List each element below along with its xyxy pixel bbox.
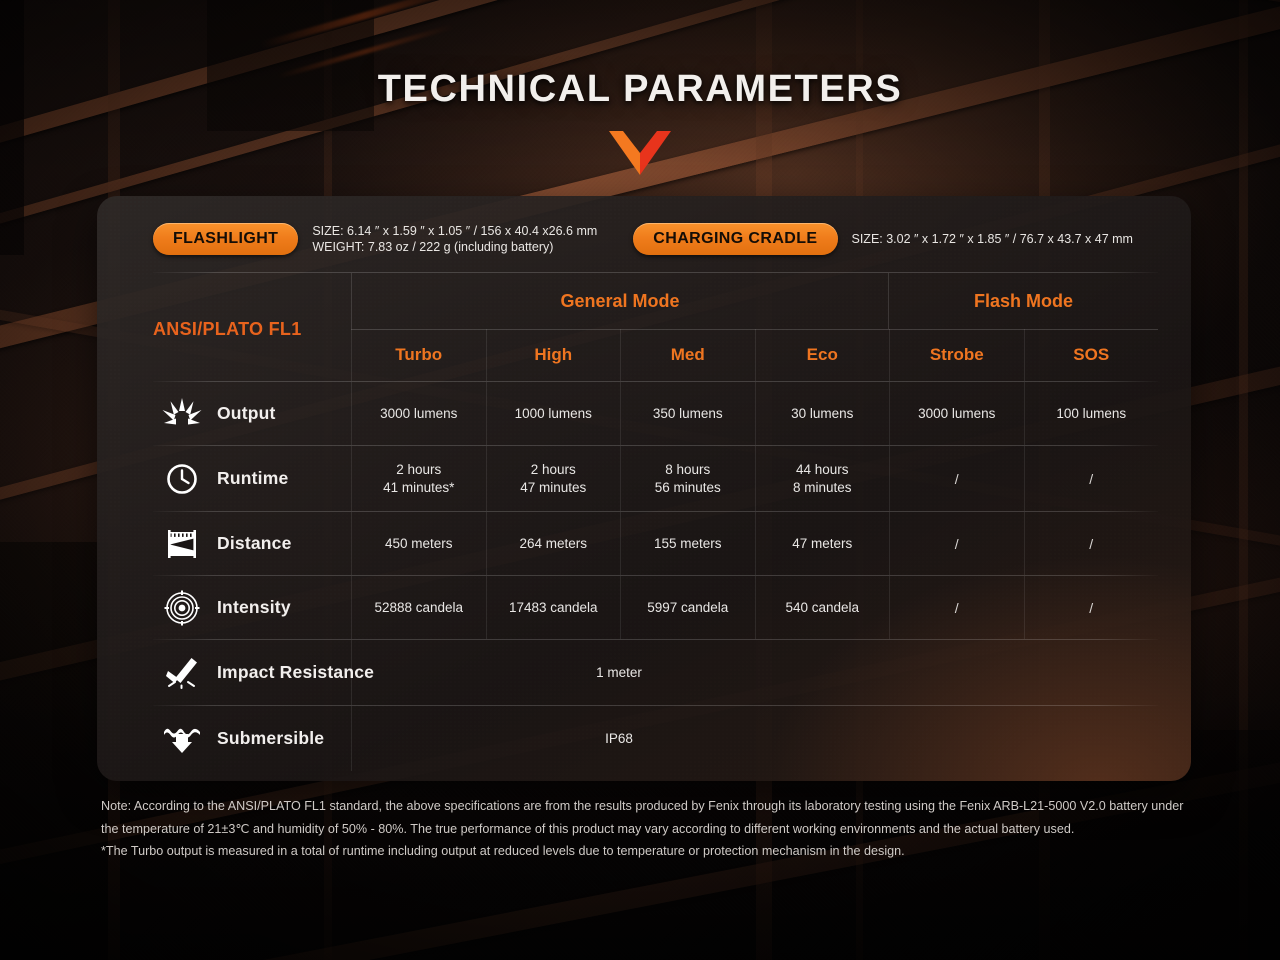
drop-impact-icon	[159, 653, 205, 693]
beam-distance-icon	[159, 524, 205, 564]
cell-distance-strobe: /	[889, 512, 1024, 575]
cell-intensity-high: 17483 candela	[486, 576, 621, 639]
row-label-output: Output	[153, 382, 351, 445]
row-name-submersible: Submersible	[217, 728, 324, 749]
cell-line-2: 41 minutes*	[383, 479, 454, 497]
table-row: Output 3000 lumens 1000 lumens 350 lumen…	[153, 382, 1158, 445]
row-label-impact-resistance: Impact Resistance	[153, 640, 351, 705]
footnote-line-2: *The Turbo output is measured in a total…	[101, 840, 1186, 863]
flashlight-weight: WEIGHT: 7.83 oz / 222 g (including batte…	[312, 239, 597, 255]
table-row: Impact Resistance 1 meter	[153, 640, 1158, 705]
mode-header-turbo: Turbo	[351, 329, 486, 381]
cell-distance-turbo: 450 meters	[351, 512, 486, 575]
table-header: ANSI/PLATO FL1 General Mode Flash Mode T…	[153, 273, 1158, 381]
cell-distance-high: 264 meters	[486, 512, 621, 575]
table-row: Distance 450 meters 264 meters 155 meter…	[153, 512, 1158, 575]
chevron-down-icon	[609, 131, 671, 175]
cell-line-2: 8 minutes	[793, 479, 852, 497]
table-row: Intensity 52888 candela 17483 candela 59…	[153, 576, 1158, 639]
header-sub-divider	[351, 329, 1158, 330]
page-title: TECHNICAL PARAMETERS	[0, 68, 1280, 111]
cell-runtime-sos: /	[1024, 446, 1159, 511]
cell-line-1: 44 hours	[793, 461, 852, 479]
submersible-text: IP68	[605, 731, 633, 746]
target-intensity-icon	[159, 588, 205, 628]
mode-header-eco: Eco	[755, 329, 890, 381]
cell-runtime-eco: 44 hours8 minutes	[755, 446, 890, 511]
cell-impact-resistance-value: 1 meter	[351, 640, 1158, 705]
cell-line-2: 47 minutes	[520, 479, 586, 497]
cell-intensity-med: 5997 candela	[620, 576, 755, 639]
specifications-table: ANSI/PLATO FL1 General Mode Flash Mode T…	[153, 272, 1158, 771]
row-label-runtime: Runtime	[153, 446, 351, 511]
charging-cradle-group: CHARGING CRADLE SIZE: 3.02 ″ x 1.72 ″ x …	[633, 223, 1133, 255]
sunburst-icon	[159, 394, 205, 434]
mode-header-med: Med	[620, 329, 755, 381]
cell-distance-sos: /	[1024, 512, 1159, 575]
charging-cradle-spec-text: SIZE: 3.02 ″ x 1.72 ″ x 1.85 ″ / 76.7 x …	[852, 231, 1133, 247]
flashlight-pill[interactable]: FLASHLIGHT	[153, 223, 298, 255]
cell-line-1: 2 hours	[520, 461, 586, 479]
group-header-flash-mode: Flash Mode	[888, 273, 1158, 329]
row-label-distance: Distance	[153, 512, 351, 575]
cell-submersible-value: IP68	[351, 706, 1158, 771]
footnote: Note: According to the ANSI/PLATO FL1 st…	[101, 795, 1186, 863]
cell-output-high: 1000 lumens	[486, 382, 621, 445]
row-label-intensity: Intensity	[153, 576, 351, 639]
cell-line-1: 8 hours	[655, 461, 721, 479]
cell-distance-eco: 47 meters	[755, 512, 890, 575]
spec-panel: FLASHLIGHT SIZE: 6.14 ″ x 1.59 ″ x 1.05 …	[97, 196, 1191, 781]
impact-resistance-text: 1 meter	[596, 665, 642, 680]
row-name-runtime: Runtime	[217, 468, 288, 489]
flashlight-spec-text: SIZE: 6.14 ″ x 1.59 ″ x 1.05 ″ / 156 x 4…	[312, 223, 597, 255]
row-name-distance: Distance	[217, 533, 292, 554]
cell-output-eco: 30 lumens	[755, 382, 890, 445]
ansi-plato-label: ANSI/PLATO FL1	[153, 273, 351, 329]
charging-cradle-size: SIZE: 3.02 ″ x 1.72 ″ x 1.85 ″ / 76.7 x …	[852, 232, 1133, 246]
mode-header-high: High	[486, 329, 621, 381]
page-header: TECHNICAL PARAMETERS	[0, 0, 1280, 175]
flashlight-size: SIZE: 6.14 ″ x 1.59 ″ x 1.05 ″ / 156 x 4…	[312, 223, 597, 239]
row-label-submersible: Submersible	[153, 706, 351, 771]
cell-output-strobe: 3000 lumens	[889, 382, 1024, 445]
table-row: Submersible IP68	[153, 706, 1158, 771]
water-submersible-icon	[159, 719, 205, 759]
charging-cradle-pill[interactable]: CHARGING CRADLE	[633, 223, 837, 255]
cell-intensity-sos: /	[1024, 576, 1159, 639]
cell-intensity-strobe: /	[889, 576, 1024, 639]
cell-line-2: 56 minutes	[655, 479, 721, 497]
cell-runtime-med: 8 hours56 minutes	[620, 446, 755, 511]
cell-runtime-turbo: 2 hours41 minutes*	[351, 446, 486, 511]
cell-distance-med: 155 meters	[620, 512, 755, 575]
product-spec-bar: FLASHLIGHT SIZE: 6.14 ″ x 1.59 ″ x 1.05 …	[153, 216, 1145, 262]
mode-header-strobe: Strobe	[889, 329, 1024, 381]
ansi-plato-label-text: ANSI/PLATO FL1	[153, 319, 302, 340]
cell-runtime-high: 2 hours47 minutes	[486, 446, 621, 511]
cell-output-turbo: 3000 lumens	[351, 382, 486, 445]
mode-header-sos: SOS	[1024, 329, 1159, 381]
clock-icon	[159, 459, 205, 499]
cell-intensity-turbo: 52888 candela	[351, 576, 486, 639]
footnote-line-1: Note: According to the ANSI/PLATO FL1 st…	[101, 795, 1186, 840]
cell-line-1: 2 hours	[383, 461, 454, 479]
table-row: Runtime 2 hours41 minutes* 2 hours47 min…	[153, 446, 1158, 511]
row-name-output: Output	[217, 403, 276, 424]
cell-output-sos: 100 lumens	[1024, 382, 1159, 445]
cell-intensity-eco: 540 candela	[755, 576, 890, 639]
cell-output-med: 350 lumens	[620, 382, 755, 445]
row-name-intensity: Intensity	[217, 597, 291, 618]
cell-runtime-strobe: /	[889, 446, 1024, 511]
group-header-general-mode: General Mode	[351, 273, 888, 329]
